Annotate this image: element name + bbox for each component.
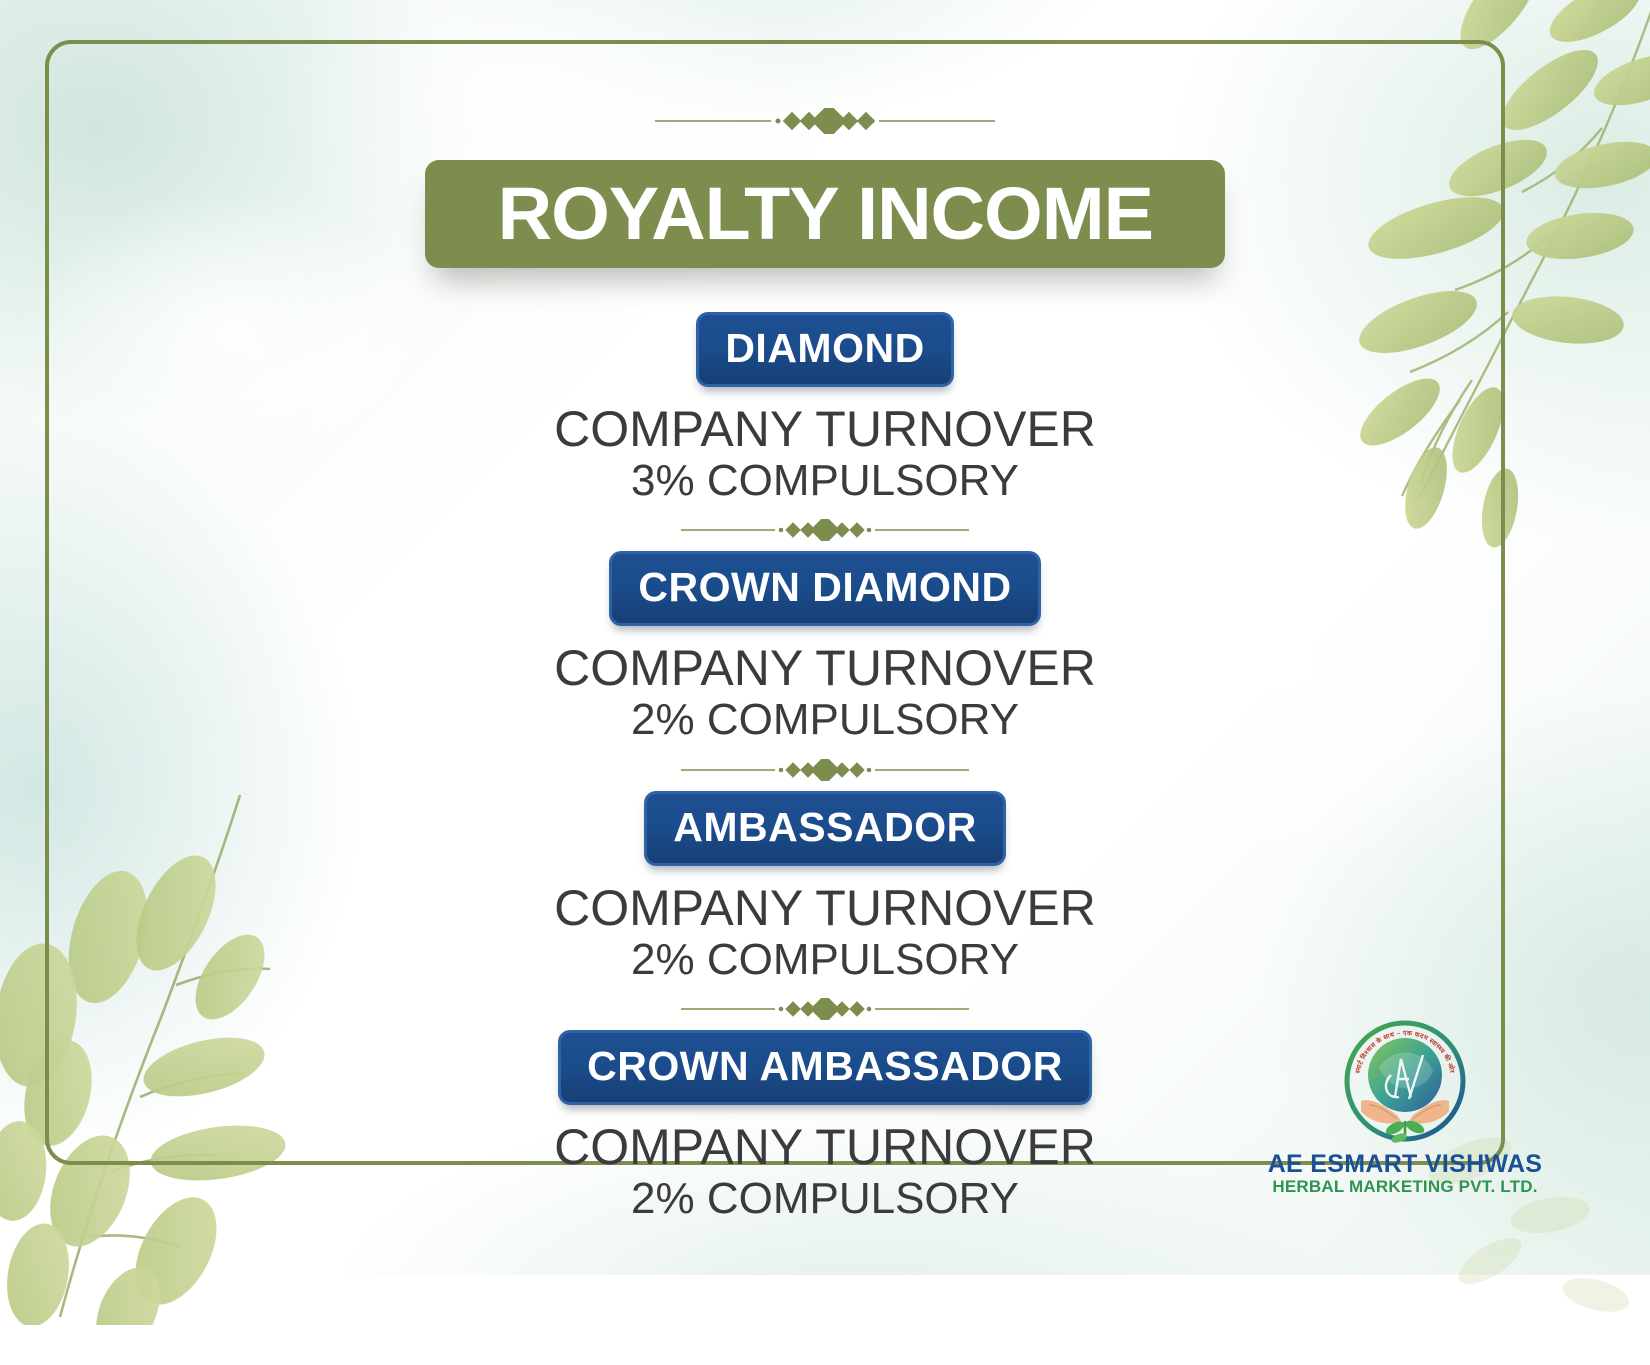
title-banner: ROYALTY INCOME	[425, 160, 1225, 268]
tier-turnover-label: COMPANY TURNOVER	[554, 403, 1096, 456]
company-subtitle: HERBAL MARKETING PVT. LTD.	[1272, 1177, 1537, 1197]
tier-block-crown-ambassador: CROWN AMBASSADOR COMPANY TURNOVER 2% COM…	[554, 1030, 1096, 1223]
tier-turnover-label: COMPANY TURNOVER	[554, 882, 1096, 935]
tier-percentage-value: 2% COMPULSORY	[631, 935, 1019, 984]
company-logo-block: स्मार्ट विश्वास के साथ – एक कदम स्वास्थ्…	[1255, 1015, 1555, 1197]
page-title: ROYALTY INCOME	[497, 177, 1152, 251]
tier-badge-crown-ambassador[interactable]: CROWN AMBASSADOR	[558, 1030, 1092, 1105]
tier-percentage-value: 3% COMPULSORY	[631, 456, 1019, 505]
tier-badge-ambassador[interactable]: AMBASSADOR	[644, 791, 1005, 866]
ornament-divider-3	[675, 998, 975, 1020]
tier-block-ambassador: AMBASSADOR COMPANY TURNOVER 2% COMPULSOR…	[554, 791, 1096, 984]
ornament-divider-2	[675, 759, 975, 781]
tier-block-crown-diamond: CROWN DIAMOND COMPANY TURNOVER 2% COMPUL…	[554, 551, 1096, 744]
tier-badge-diamond[interactable]: DIAMOND	[696, 312, 953, 387]
tier-percentage-value: 2% COMPULSORY	[631, 1174, 1019, 1223]
tier-percentage-value: 2% COMPULSORY	[631, 695, 1019, 744]
company-name: AE ESMART VISHWAS	[1268, 1151, 1543, 1177]
tier-turnover-label: COMPANY TURNOVER	[554, 642, 1096, 695]
tier-badge-crown-diamond[interactable]: CROWN DIAMOND	[609, 551, 1040, 626]
company-emblem-icon: स्मार्ट विश्वास के साथ – एक कदम स्वास्थ्…	[1339, 1015, 1471, 1147]
tier-turnover-label: COMPANY TURNOVER	[554, 1121, 1096, 1174]
ornament-divider-1	[675, 519, 975, 541]
ornament-divider-top	[645, 108, 1005, 134]
tier-block-diamond: DIAMOND COMPANY TURNOVER 3% COMPULSORY	[554, 312, 1096, 505]
